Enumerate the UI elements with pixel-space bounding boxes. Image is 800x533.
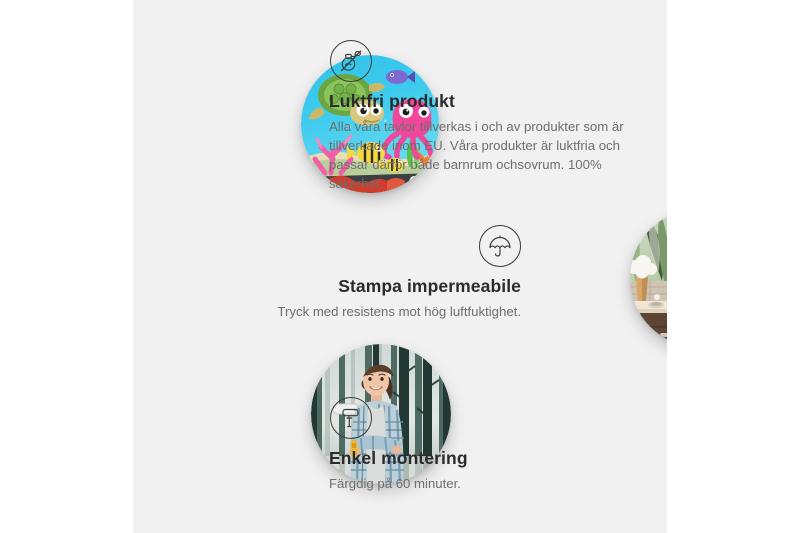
feature-description: Alla våra tavlor tillverkas i och av pro… <box>329 117 629 194</box>
paint-roller-icon <box>330 397 372 439</box>
feature-easy-mounting: Enkel montering Färgdig på 60 minuter. <box>329 397 609 493</box>
feature-title: Luktfri produkt <box>329 91 629 112</box>
bathroom-vanity-illustration <box>630 209 667 347</box>
photo-bathroom-vanity <box>630 209 667 347</box>
no-fragrance-icon <box>330 40 372 82</box>
feature-title: Enkel montering <box>329 448 609 469</box>
umbrella-icon <box>479 225 521 267</box>
feature-water-resistant: Stampa impermeabile Tryck med resistens … <box>218 225 521 321</box>
feature-description: Tryck med resistens mot hög luftfuktighe… <box>218 302 521 321</box>
feature-title: Stampa impermeabile <box>218 276 521 297</box>
feature-icon-wrap <box>218 225 521 267</box>
content-panel: Luktfri produkt Alla våra tavlor tillver… <box>133 0 667 533</box>
feature-odour-free: Luktfri produkt Alla våra tavlor tillver… <box>329 40 629 194</box>
feature-icon-wrap <box>329 40 629 82</box>
feature-icon-wrap <box>329 397 609 439</box>
infographic-canvas: Luktfri produkt Alla våra tavlor tillver… <box>0 0 800 533</box>
feature-description: Färgdig på 60 minuter. <box>329 474 609 493</box>
